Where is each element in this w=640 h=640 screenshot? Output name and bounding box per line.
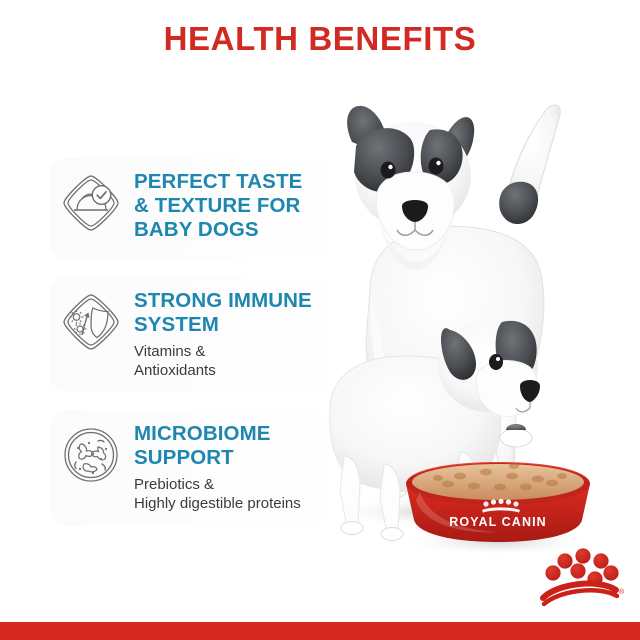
benefit-title: STRONG IMMUNE SYSTEM bbox=[134, 289, 312, 337]
benefit-item-microbiome-support: MICROBIOME SUPPORT Prebiotics & Highly d… bbox=[50, 410, 350, 525]
kibble bbox=[412, 464, 584, 500]
eye bbox=[429, 158, 444, 175]
benefits-list: PERFECT TASTE & TEXTURE FOR BABY DOGS bbox=[50, 158, 350, 526]
benefit-title: PERFECT TASTE & TEXTURE FOR BABY DOGS bbox=[134, 170, 302, 242]
bowl-brand-text: ROYAL CANIN bbox=[449, 515, 547, 529]
product-health-benefits-banner: HEALTH BENEFITS bbox=[0, 0, 640, 640]
dogs-photo: ROYAL CANIN bbox=[310, 80, 640, 560]
benefit-text: PERFECT TASTE & TEXTURE FOR BABY DOGS bbox=[134, 168, 302, 247]
benefit-subtitle: Vitamins & Antioxidants bbox=[134, 342, 312, 380]
page-title: HEALTH BENEFITS bbox=[0, 20, 640, 58]
benefit-subtitle: Prebiotics & Highly digestible proteins bbox=[134, 475, 301, 513]
bottom-red-bar bbox=[0, 622, 640, 640]
royal-canin-food-bowl: ROYAL CANIN bbox=[398, 462, 598, 556]
benefit-item-strong-immune-system: STRONG IMMUNE SYSTEM Vitamins & Antioxid… bbox=[50, 277, 350, 392]
food-bowl-check-icon bbox=[60, 172, 122, 234]
microbiome-bacteria-icon bbox=[60, 424, 122, 486]
royal-canin-crest-logo: ® bbox=[540, 546, 626, 608]
eye bbox=[489, 354, 503, 370]
crest-arcs bbox=[543, 584, 617, 604]
benefit-item-perfect-taste: PERFECT TASTE & TEXTURE FOR BABY DOGS bbox=[50, 158, 350, 259]
benefit-text: STRONG IMMUNE SYSTEM Vitamins & Antioxid… bbox=[134, 287, 312, 380]
benefit-title: MICROBIOME SUPPORT bbox=[134, 422, 301, 470]
registered-mark: ® bbox=[619, 588, 625, 596]
eye bbox=[381, 162, 396, 179]
benefit-text: MICROBIOME SUPPORT Prebiotics & Highly d… bbox=[134, 420, 301, 513]
shield-immunity-icon bbox=[60, 291, 122, 353]
dogs-illustration: ROYAL CANIN bbox=[310, 80, 640, 560]
